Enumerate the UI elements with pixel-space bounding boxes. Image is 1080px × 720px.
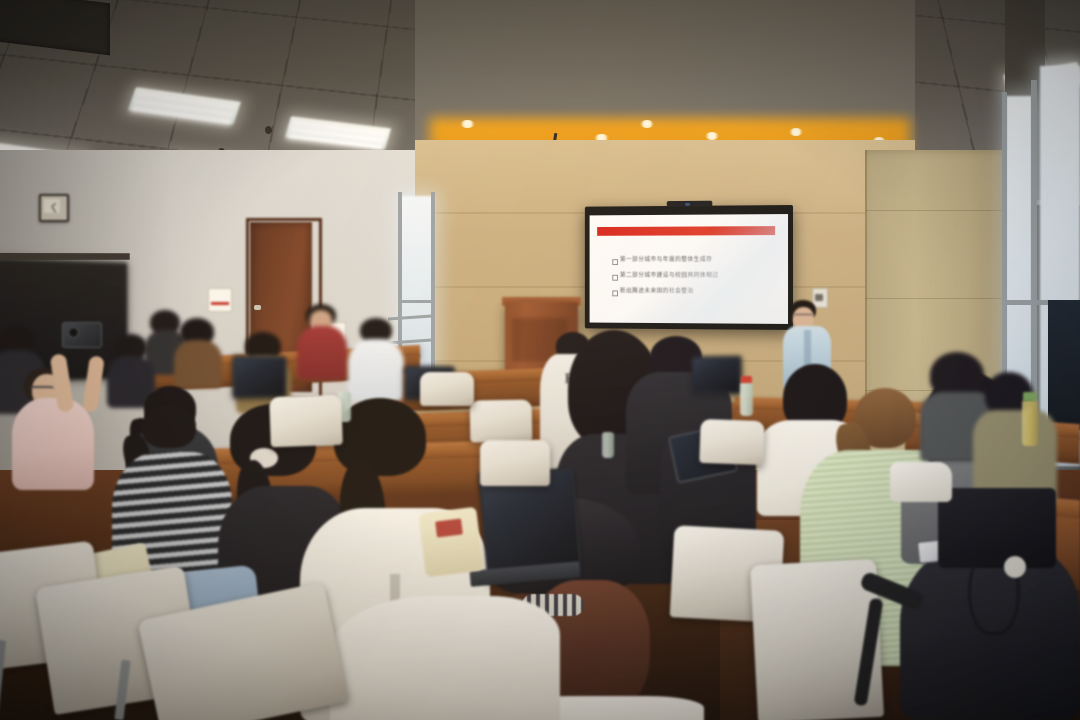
presentation-display: 第一部分城市与年度的整体生成存 第二部分城市建设与校园共同体相过 新出腾途未来国… [585, 205, 793, 330]
downlight [789, 128, 803, 136]
tote-bag [418, 507, 483, 578]
phone-camera-icon [68, 327, 79, 338]
door-knob[interactable] [254, 305, 261, 310]
chair-back[interactable] [480, 440, 550, 486]
water-bottle-right [1022, 400, 1038, 446]
screen-glare [590, 214, 788, 324]
window-rail [400, 300, 432, 303]
downlight [640, 120, 654, 128]
laptop-right[interactable] [691, 356, 741, 395]
window-mullion [431, 192, 435, 378]
wall-notice-left [208, 288, 232, 312]
wall-panel-button[interactable] [815, 294, 823, 301]
water-bottle-center [602, 432, 614, 458]
glasses-icon [30, 386, 54, 393]
lecture-hall-photo: 第一部分城市与年度的整体生成存 第二部分城市建设与校园共同体相过 新出腾途未来国… [0, 0, 1080, 720]
chair-back[interactable] [269, 395, 343, 447]
window-dark-pane [1048, 300, 1080, 430]
blackboard-top-frame [0, 253, 130, 260]
downlight [705, 132, 719, 140]
presentation-slide: 第一部分城市与年度的整体生成存 第二部分城市建设与校园共同体相过 新出腾途未来国… [590, 214, 788, 324]
chair-back[interactable] [420, 372, 474, 406]
tote-bag-logo [435, 518, 463, 537]
laptop-back-row[interactable] [232, 355, 286, 398]
chair-back[interactable] [699, 419, 764, 465]
bottle-cap [741, 376, 752, 383]
chair-back[interactable] [470, 399, 533, 442]
clock-face [44, 199, 60, 213]
person-front-white-shoulder [330, 596, 560, 720]
wall-clock [39, 194, 69, 222]
glasses-icon [794, 314, 813, 319]
downlight [460, 120, 475, 128]
plastic-bag [890, 462, 952, 502]
bottle-cap [1023, 392, 1037, 401]
ceiling-speaker [265, 126, 272, 134]
water-bottle-front [740, 382, 753, 416]
bag-charm [1004, 556, 1026, 578]
